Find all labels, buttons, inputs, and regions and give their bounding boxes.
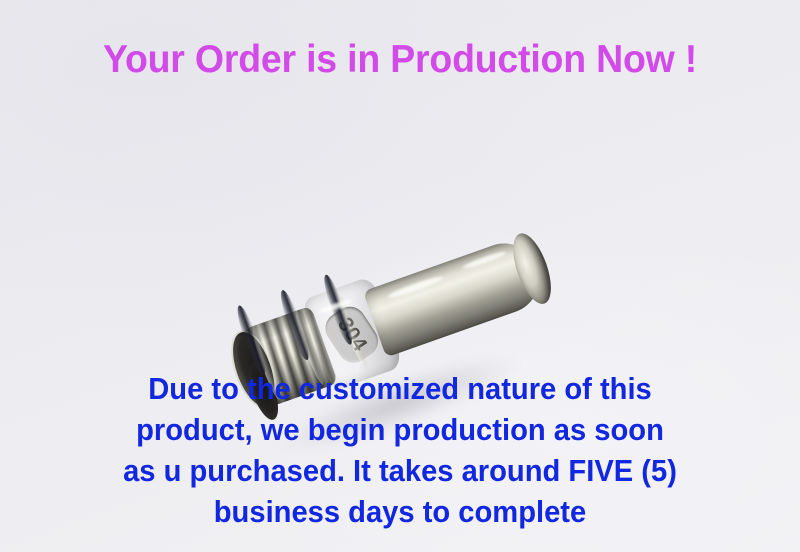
message-line-3: as u purchased. It takes around FIVE (5) [24,450,776,491]
message-line-4: business days to complete [24,491,776,532]
page-title: Your Order is in Production Now ! [16,38,784,82]
production-notice-message: Due to the customized nature of this pro… [24,368,776,532]
message-line-1: Due to the customized nature of this [24,368,776,409]
promo-notice-page: Your Order is in Production Now ! 304 [0,0,800,552]
product-photo: 304 [0,120,800,380]
message-line-2: product, we begin production as soon [24,409,776,450]
